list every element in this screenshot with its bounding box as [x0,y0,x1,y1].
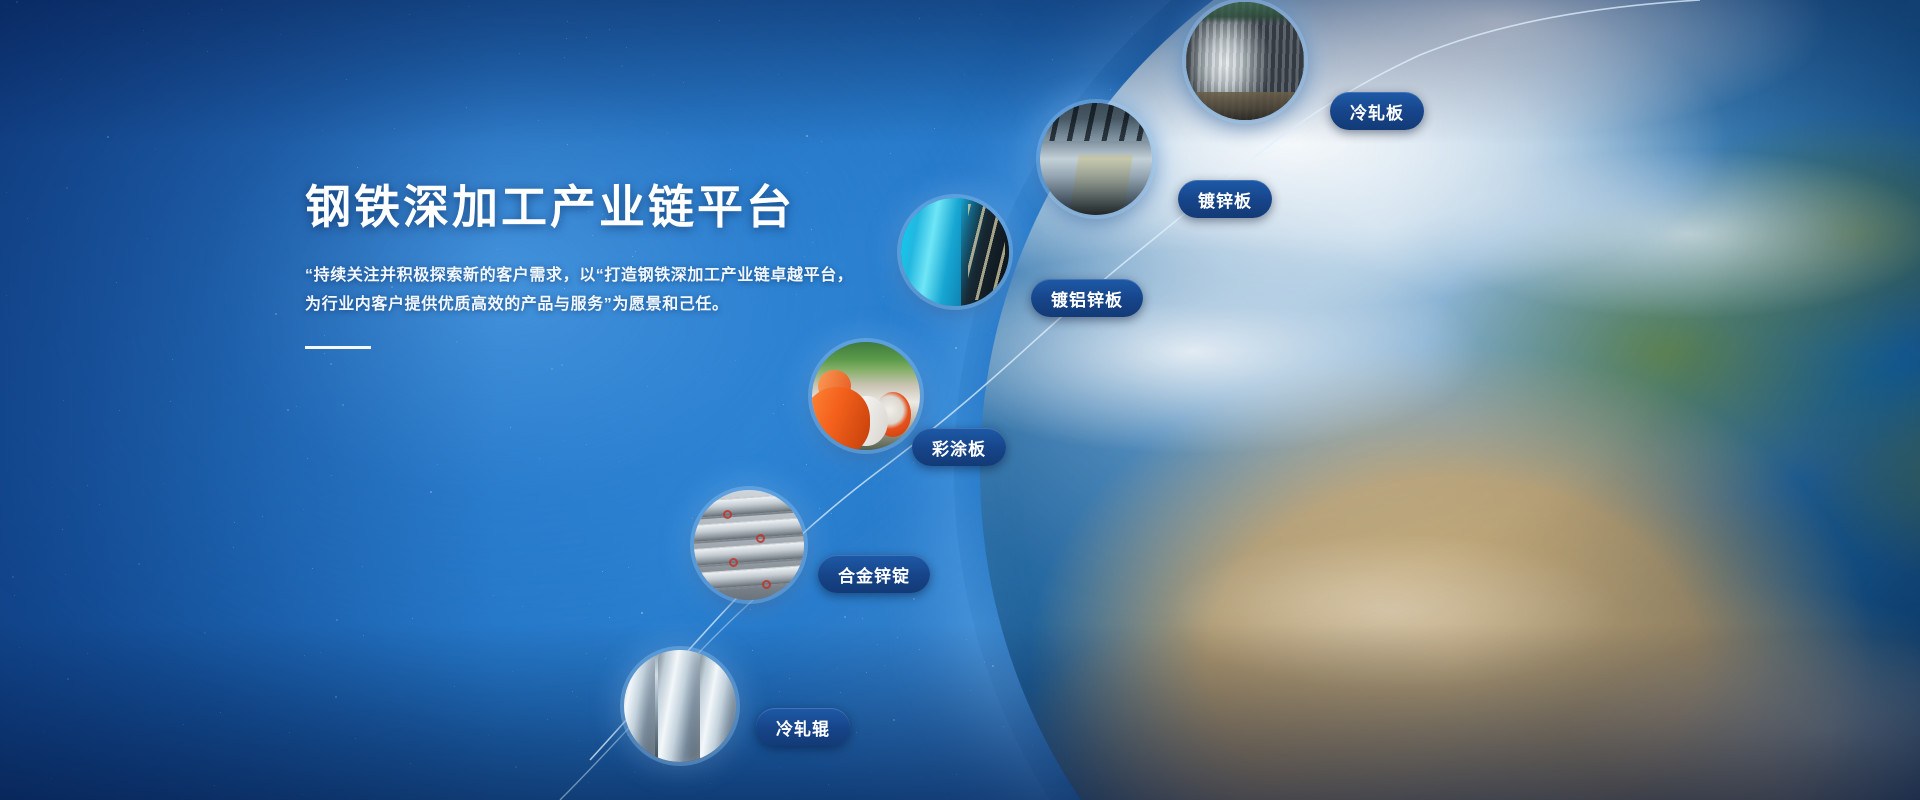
warehouse-aisle [1069,155,1132,215]
product-label-0[interactable]: 冷轧板 [1330,92,1424,130]
ingot-row [694,565,804,592]
hero-subtitle: “持续关注并积极探索新的客户需求，以“打造钢铁深加工产业链卓越平台， 为行业内客… [305,261,885,320]
ingot-row [694,516,804,543]
cold-rolled-steel-coils-photo [1186,2,1304,120]
product-image-galvanized-plate[interactable] [1040,103,1152,215]
factory-roof [1186,2,1304,23]
hero-copy: 钢铁深加工产业链平台 “持续关注并积极探索新的客户需求，以“打造钢铁深加工产业链… [305,182,885,349]
ingot-stamp [762,580,771,589]
subtitle-line-2: 为行业内客户提供优质高效的产品与服务”为愿景和己任。 [305,296,729,313]
product-label-1[interactable]: 镀锌板 [1178,180,1272,218]
aluminum-zinc-coated-coil-photo [901,198,1009,306]
ingot-stamp [723,510,732,519]
zinc-alloy-ingots-photo [694,490,804,600]
coil-strip-edges [968,204,1005,299]
product-image-alu-zinc-plate[interactable] [901,198,1009,306]
cold-rolling-mill-rolls-photo [624,650,736,762]
title-divider [305,346,371,349]
product-label-2[interactable]: 镀铝锌板 [1031,279,1143,317]
product-image-cold-rolled-plate[interactable] [1186,2,1304,120]
hero-banner: 冷轧板 镀锌板 镀铝锌板 彩 [0,0,1920,800]
product-image-cold-rolling-roll[interactable] [624,650,736,762]
color-coated-steel-coils-photo [812,342,920,450]
mill-roll [700,650,736,762]
warehouse-beams [1040,103,1152,141]
product-label-3[interactable]: 彩涂板 [912,428,1006,466]
page-title: 钢铁深加工产业链平台 [305,182,885,233]
ingot-stamp [756,534,765,543]
factory-floor [1186,92,1304,120]
ingot-row [694,541,804,568]
product-label-4[interactable]: 合金锌锭 [818,555,930,593]
product-label-5[interactable]: 冷轧辊 [756,708,850,746]
product-image-zinc-alloy-ingot[interactable] [694,490,804,600]
coil-orange-front [812,387,870,450]
product-image-color-coated-plate[interactable] [812,342,920,450]
subtitle-line-1: “持续关注并积极探索新的客户需求，以“打造钢铁深加工产业链卓越平台， [305,267,853,284]
mill-roll [624,650,655,762]
ingot-row [694,492,804,519]
product-chain-connector [0,0,1920,800]
galvanized-coil-warehouse-photo [1040,103,1152,215]
ingot-stamp [729,558,738,567]
mill-roll [658,650,701,762]
